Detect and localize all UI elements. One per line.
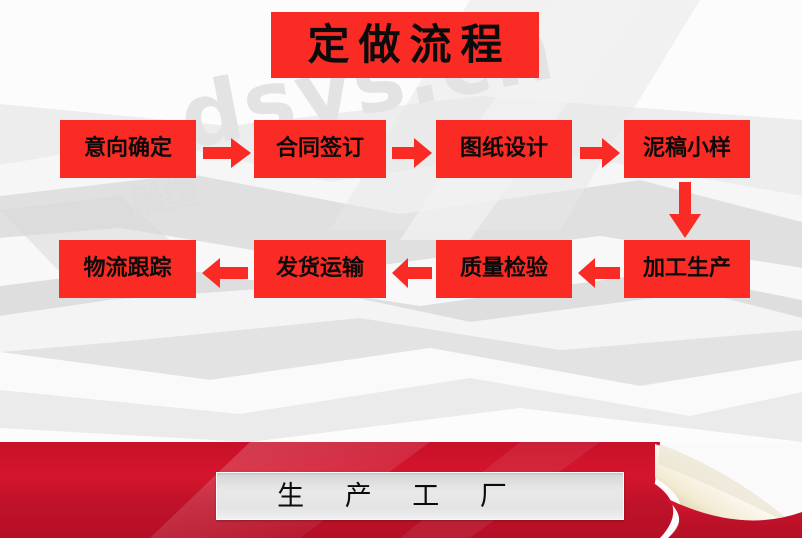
flow-step-inspection[interactable]: 质量检验 [436,240,572,298]
flow-step-contract[interactable]: 合同签订 [254,120,386,178]
arrow-down-claymodel-to-production [668,182,702,238]
flow-step-inspection-label: 质量检验 [460,258,548,280]
arrow-left-production-to-inspection [578,256,620,290]
flow-step-logistics-label: 物流跟踪 [83,258,171,280]
flow-step-claymodel[interactable]: 泥稿小样 [624,120,750,178]
arrow-left-inspection-to-shipping [392,256,432,290]
flow-step-production-label: 加工生产 [643,258,731,280]
flow-step-intent[interactable]: 意向确定 [60,120,196,178]
arrow-right-intent-to-contract [203,136,251,170]
arrow-left-shipping-to-logistics [202,256,248,290]
slide-canvas: dsys.cn 雕塑 定做流程 意向确定 合同签订 图纸设计 泥稿小样 物流跟踪… [0,0,802,538]
flow-step-drawing-label: 图纸设计 [460,138,548,160]
flow-step-drawing[interactable]: 图纸设计 [436,120,572,178]
page-title: 定做流程 [298,24,511,66]
flow-step-claymodel-label: 泥稿小样 [643,138,731,160]
footer-plate: 生 产 工 厂 [216,472,624,520]
flow-step-contract-label: 合同签订 [276,138,364,160]
footer-label: 生 产 工 厂 [261,483,523,510]
page-title-box: 定做流程 [271,12,539,78]
flow-step-intent-label: 意向确定 [84,138,172,160]
flow-step-shipping[interactable]: 发货运输 [254,240,386,298]
arrow-right-contract-to-drawing [392,136,432,170]
flow-step-shipping-label: 发货运输 [276,258,364,280]
arrow-right-drawing-to-claymodel [580,136,620,170]
flow-step-logistics[interactable]: 物流跟踪 [59,240,196,298]
flow-step-production[interactable]: 加工生产 [624,240,750,298]
